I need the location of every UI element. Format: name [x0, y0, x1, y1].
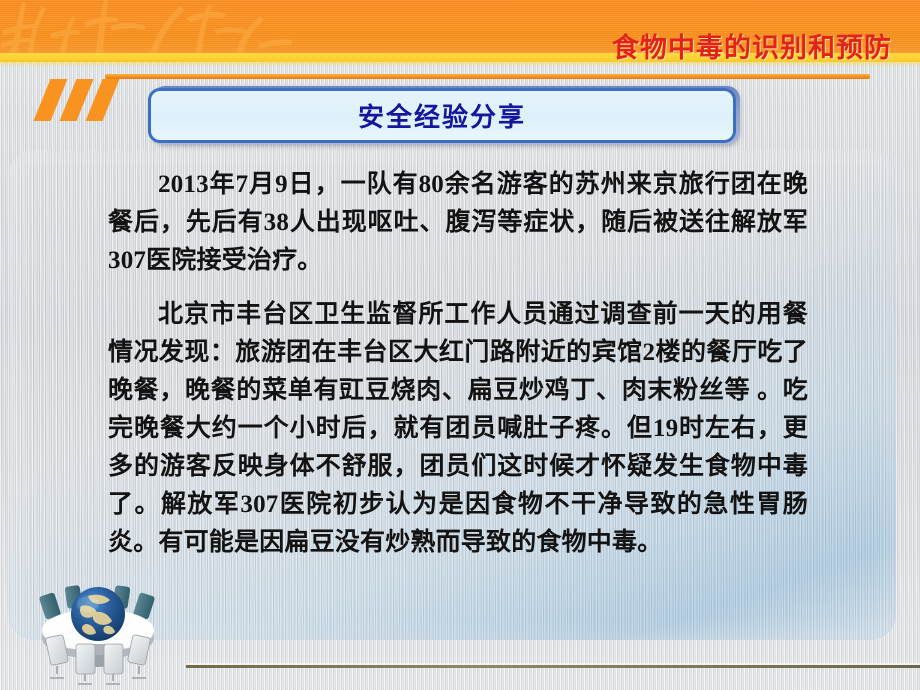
slide: 食物中毒的识别和预防 安全经验分享 2013年7月9日，一队有80余名游客的苏州… [0, 0, 920, 690]
triple-slash-icon [42, 79, 132, 121]
footer-rule [186, 665, 920, 668]
paragraph-2: 北京市丰台区卫生监督所工作人员通过调查前一天的用餐情况发现：旅游团在丰台区大红门… [108, 296, 808, 562]
section-banner: 安全经验分享 [148, 88, 736, 143]
header-divider-rule [105, 74, 870, 79]
page-title: 食物中毒的识别和预防 [612, 26, 892, 65]
paragraph-1: 2013年7月9日，一队有80余名游客的苏州来京旅行团在晚餐后，先后有38人出现… [108, 166, 808, 280]
bamboo-grass-icon [0, 0, 300, 53]
section-banner-label: 安全经验分享 [358, 97, 526, 134]
globe-conference-table-icon [18, 574, 208, 686]
body-text-block: 2013年7月9日，一队有80余名游客的苏州来京旅行团在晚餐后，先后有38人出现… [108, 166, 808, 562]
